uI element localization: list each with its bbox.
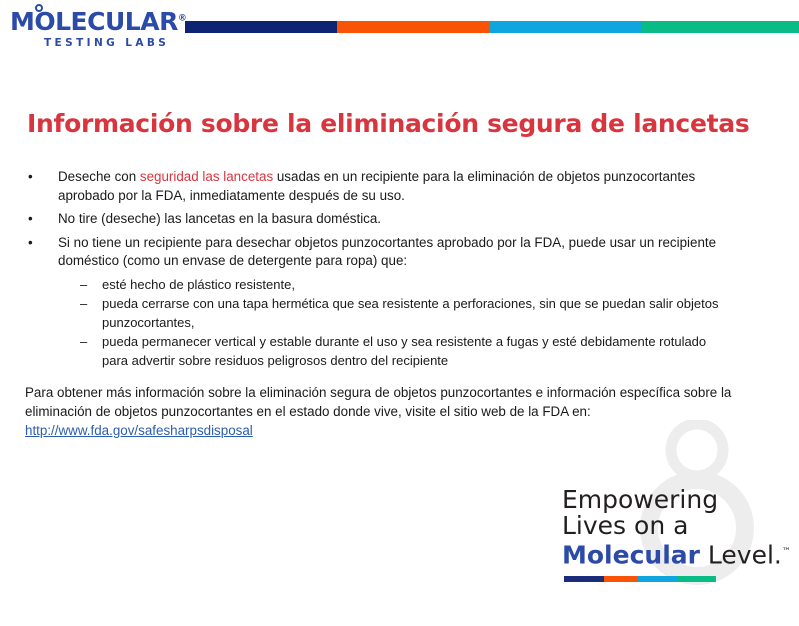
header-green-segment bbox=[642, 21, 799, 33]
bullet-marker-icon: • bbox=[28, 168, 33, 187]
sub-bullet-dash-icon: – bbox=[80, 295, 87, 314]
tagline-rest-word: Level. bbox=[700, 540, 782, 569]
logo-subtitle: TESTING LABS bbox=[44, 37, 182, 49]
slide-content: •Deseche con seguridad las lancetas usad… bbox=[0, 168, 799, 453]
tagline-line-2: Lives on a bbox=[562, 513, 792, 539]
header-navy-segment bbox=[185, 21, 337, 33]
logo-o-ring-icon bbox=[35, 4, 43, 12]
sub-bullet-item: –esté hecho de plástico resistente, bbox=[0, 276, 799, 295]
sub-bullet-text: esté hecho de plástico resistente, bbox=[102, 277, 295, 292]
sub-bullet-item: –pueda cerrarse con una tapa hermética q… bbox=[0, 295, 799, 332]
bullet-item: •Si no tiene un recipiente para desechar… bbox=[0, 234, 799, 271]
bullet-text: Si no tiene un recipiente para desechar … bbox=[58, 235, 716, 269]
sub-bullet-text: pueda permanecer vertical y estable dura… bbox=[102, 334, 706, 368]
tagline-line-3: Molecular Level.™ bbox=[562, 539, 792, 568]
bullet-item: •No tire (deseche) las lancetas en la ba… bbox=[0, 210, 799, 229]
bullet-text: No tire (deseche) las lancetas en la bas… bbox=[58, 211, 381, 226]
bullet-item: •Deseche con seguridad las lancetas usad… bbox=[0, 168, 799, 205]
bullet-marker-icon: • bbox=[28, 210, 33, 229]
tagline-light-blue-segment bbox=[637, 576, 678, 582]
sub-bullet-dash-icon: – bbox=[80, 333, 87, 352]
logo-wordmark-text: MOLECULAR® bbox=[10, 9, 182, 34]
bullet-marker-icon: • bbox=[28, 234, 33, 253]
trademark-icon: ™ bbox=[782, 547, 791, 557]
tagline-orange-segment bbox=[604, 576, 637, 582]
tagline-line-1: Empowering bbox=[562, 487, 792, 513]
header-color-bar bbox=[185, 21, 799, 33]
page-title: Información sobre la eliminación segura … bbox=[27, 109, 749, 138]
tagline-color-bar bbox=[564, 576, 716, 582]
page-header: MOLECULAR® TESTING LABS bbox=[0, 0, 799, 58]
bullet-text: Deseche con bbox=[58, 169, 140, 184]
fda-safesharps-link[interactable]: http://www.fda.gov/safesharpsdisposal bbox=[25, 423, 253, 438]
sub-bullet-text: pueda cerrarse con una tapa hermética qu… bbox=[102, 296, 718, 330]
tagline-green-segment bbox=[678, 576, 716, 582]
brand-logo: MOLECULAR® TESTING LABS bbox=[10, 9, 182, 49]
tagline-navy-segment bbox=[564, 576, 604, 582]
header-orange-segment bbox=[337, 21, 490, 33]
closing-paragraph: Para obtener más información sobre la el… bbox=[0, 383, 799, 440]
sub-bullet-dash-icon: – bbox=[80, 276, 87, 295]
logo-wordmark-label: MOLECULAR bbox=[10, 7, 178, 36]
sub-bullet-list: –esté hecho de plástico resistente,–pued… bbox=[0, 276, 799, 371]
header-light-blue-segment bbox=[490, 21, 642, 33]
bullet-text-highlight: seguridad las lancetas bbox=[140, 169, 273, 184]
sub-bullet-item: –pueda permanecer vertical y estable dur… bbox=[0, 333, 799, 370]
closing-paragraph-text: Para obtener más información sobre la el… bbox=[25, 385, 731, 419]
tagline-brand-word: Molecular bbox=[562, 540, 700, 569]
bullet-list: •Deseche con seguridad las lancetas usad… bbox=[0, 168, 799, 271]
brand-tagline: Empowering Lives on a Molecular Level.™ bbox=[562, 487, 792, 582]
